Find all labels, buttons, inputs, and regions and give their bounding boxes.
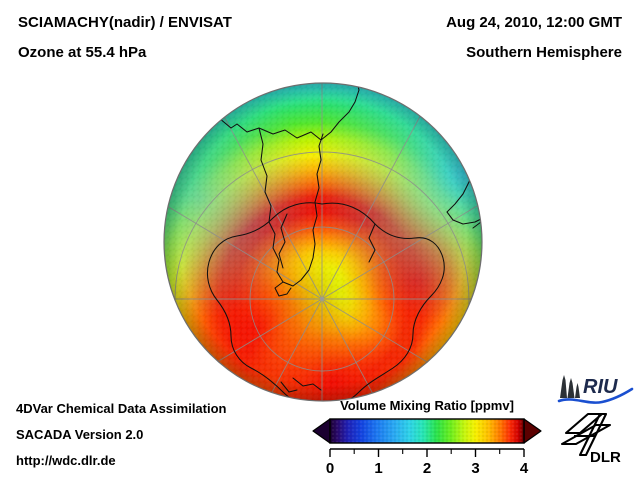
south-pole-marker: [320, 297, 324, 301]
riu-towers-icon: [560, 375, 580, 398]
colorbar-title: Volume Mixing Ratio [ppmv]: [308, 398, 546, 413]
colorbar-tick-1: 1: [374, 460, 382, 477]
colorbar: Volume Mixing Ratio [ppmv]: [308, 398, 546, 477]
polar-stereographic-globe: [163, 82, 483, 402]
colorbar-tick-2: 2: [423, 460, 431, 477]
dlr-wordmark: DLR: [590, 449, 621, 466]
footer-assimilation-method: 4DVar Chemical Data Assimilation: [16, 401, 227, 416]
riu-logo: RIU: [556, 372, 634, 406]
colorbar-tick-0: 0: [326, 460, 334, 477]
colorbar-extend-high: [524, 419, 541, 443]
colorbar-extend-low: [313, 419, 330, 443]
ozone-field: [163, 82, 483, 402]
dlr-logo: DLR: [560, 412, 632, 466]
colorbar-tick-3: 3: [471, 460, 479, 477]
colorbar-svg: 0 1 2 3 4: [308, 417, 546, 477]
footer-url: http://wdc.dlr.de: [16, 453, 116, 468]
colorbar-texture: [330, 419, 524, 443]
colorbar-axis: [330, 449, 524, 457]
dlr-logo-svg: DLR: [560, 412, 632, 466]
ozone-map-figure: SCIAMACHY(nadir) / ENVISAT Ozone at 55.4…: [0, 0, 640, 480]
header-date: Aug 24, 2010, 12:00 GMT: [446, 14, 622, 31]
footer-model-version: SACADA Version 2.0: [16, 427, 143, 442]
header-region: Southern Hemisphere: [466, 44, 622, 61]
riu-wordmark: RIU: [583, 376, 618, 398]
header-instrument: SCIAMACHY(nadir) / ENVISAT: [18, 14, 232, 31]
header-quantity: Ozone at 55.4 hPa: [18, 44, 146, 61]
riu-logo-svg: RIU: [556, 372, 634, 406]
colorbar-tick-4: 4: [520, 460, 529, 477]
globe-svg: [163, 82, 483, 402]
